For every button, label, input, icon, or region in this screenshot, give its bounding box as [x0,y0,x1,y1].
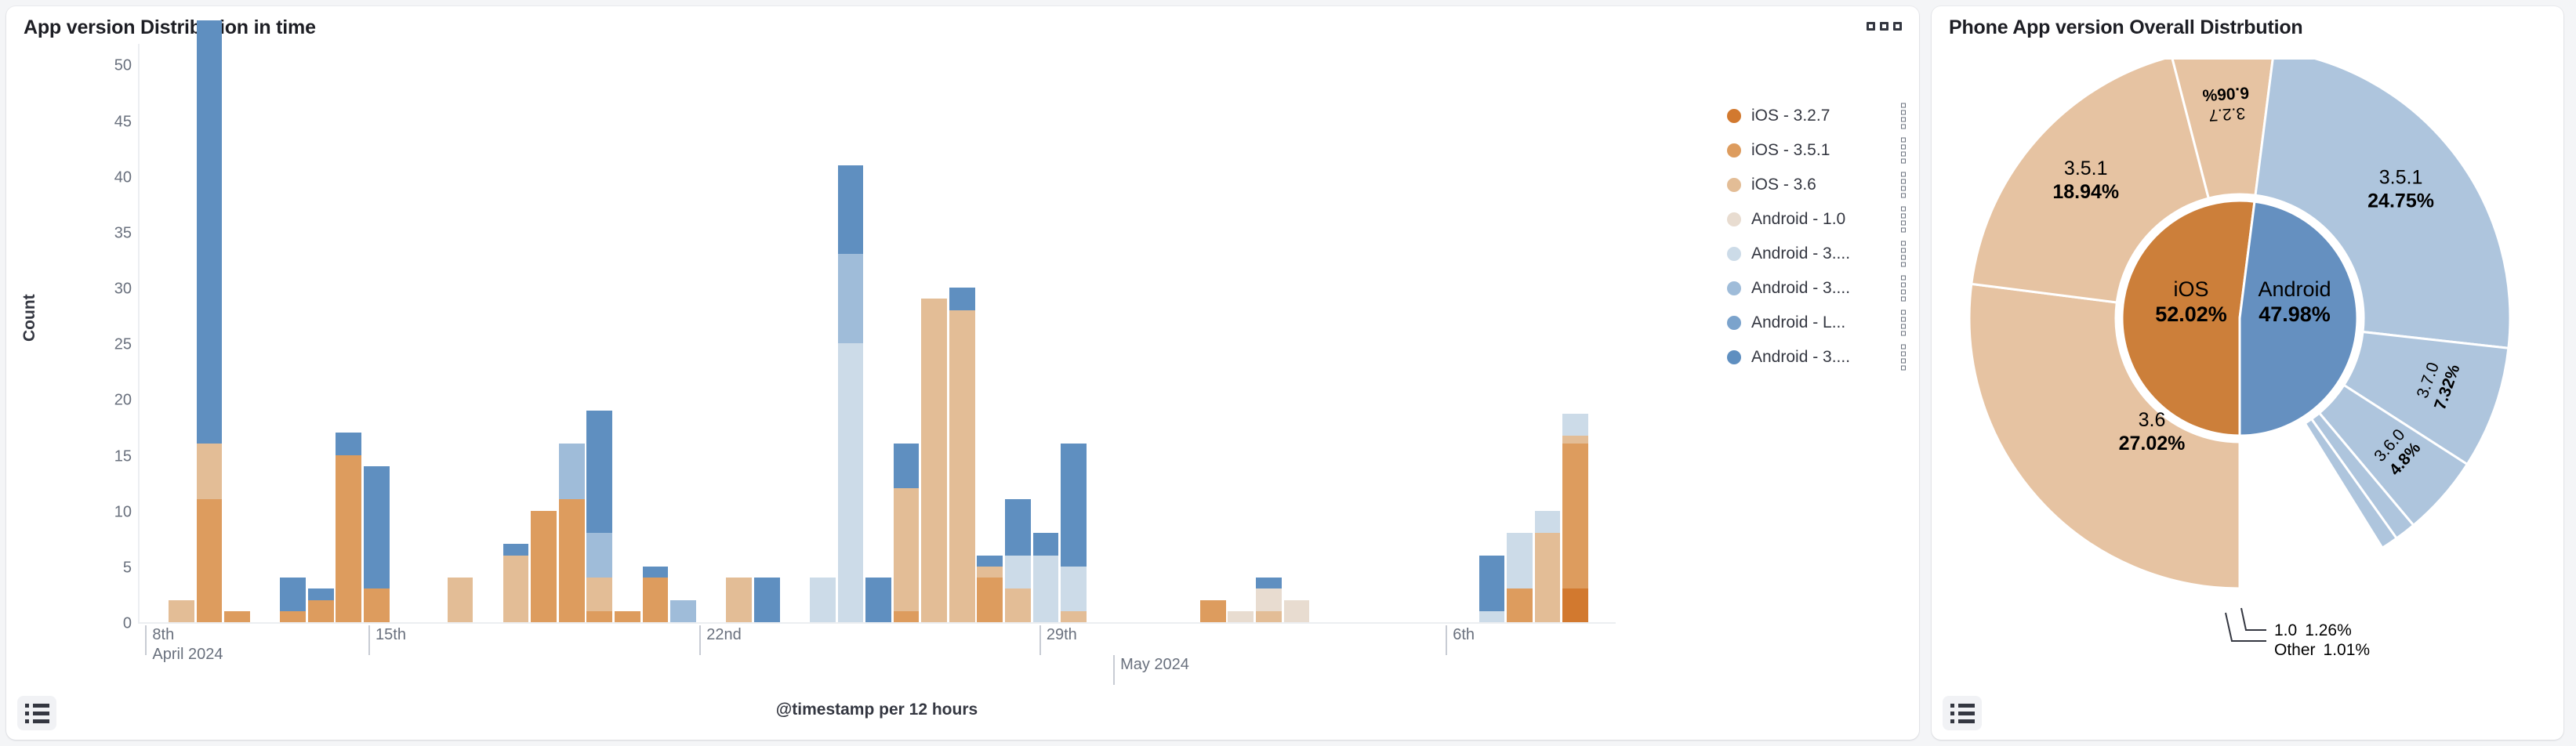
bar-column[interactable] [1284,600,1310,622]
bar-segment [1562,444,1588,588]
bar-segment [1479,556,1505,611]
grip-square [1901,110,1906,115]
bar-column[interactable] [949,288,975,622]
bar-segment [1200,600,1226,622]
list-bullet [1950,704,1954,708]
y-axis-title: Count [20,294,39,342]
legend-color-dot [1727,109,1741,123]
grip-square [1901,366,1906,371]
callout-leader-one-zero [2241,608,2266,630]
x-tick-label: 22nd [699,625,742,655]
grip-square [1901,276,1906,281]
bar-segment [1061,567,1087,611]
bar-segment [1562,436,1588,444]
bar-column[interactable] [1256,578,1282,622]
bar-segment [336,455,361,622]
bar-column[interactable] [865,578,891,622]
bar-column[interactable] [448,578,473,622]
legend-item[interactable]: Android - 1.0 [1727,202,1907,237]
bar-column[interactable] [336,433,361,622]
bar-segment [559,499,585,622]
legend-drag-handle-icon[interactable] [1901,138,1906,164]
page-title-right: Phone App version Overall Distrbution [1932,6,2563,39]
bar-segment [503,544,529,555]
grip-square [1901,207,1906,212]
list-bullet [1950,719,1954,723]
bar-segment [977,567,1003,578]
y-tick-label: 25 [96,336,132,354]
bar-segment [586,411,612,534]
bar-segment [977,556,1003,567]
bar-segment [643,578,669,622]
dashboard: App version Distribution in time Count 0… [0,0,2576,746]
bar-segment [894,444,920,488]
y-tick-label: 5 [96,559,132,577]
bar-column[interactable] [1507,533,1533,622]
list-line [33,704,49,708]
bar-column[interactable] [977,556,1003,622]
legend-item[interactable]: iOS - 3.6 [1727,168,1907,202]
bar-segment [308,600,334,622]
bar-segment [280,578,306,611]
x-axis-title: @timestamp per 12 hours [138,701,1616,719]
y-tick-label: 15 [96,447,132,465]
bar-segment [1562,414,1588,436]
grip-square [1901,138,1906,143]
grip-square [1901,172,1906,177]
bar-chart: Count 05101520253035404550 8thApril 2024… [6,44,1919,718]
callout-label-1-0: 1.01.26% [2274,621,2352,639]
bar-column[interactable] [726,578,752,622]
bar-column[interactable] [1061,444,1087,622]
x-tick-label: 8thApril 2024 [145,625,223,655]
bar-segment [643,567,669,578]
bar-segment [197,444,223,499]
bar-segment [364,588,390,622]
bar-segment [1033,556,1059,622]
bar-segment [308,588,334,599]
grip-square [1901,152,1906,157]
y-axis-ticks: 05101520253035404550 [45,44,132,624]
grip-square [1901,297,1906,302]
bar-segment [894,488,920,611]
list-line [1958,704,1975,708]
legend-item-label: iOS - 3.2.7 [1751,107,1830,125]
legend-item[interactable]: iOS - 3.2.7 [1727,99,1907,133]
bar-column[interactable] [810,578,836,622]
bar-column[interactable] [1033,533,1059,622]
sunburst-slices [1969,60,2510,588]
bar-segment [1507,588,1533,622]
legend-color-dot [1727,178,1741,192]
panel-app-version-over-time: App version Distribution in time Count 0… [6,6,1919,740]
legend-item[interactable]: Android - 3.... [1727,271,1907,306]
bar-segment [838,165,864,255]
legend-color-dot [1727,212,1741,226]
grip-square [1901,145,1906,150]
page-title-left: App version Distribution in time [6,6,1919,39]
bar-column[interactable] [921,299,947,622]
x-tick-label: May 2024 [1113,655,1189,685]
bar-column[interactable] [364,466,390,622]
bar-column[interactable] [1535,511,1561,622]
bar-segment [586,611,612,622]
legend-drag-handle-icon[interactable] [1901,310,1906,336]
bar-segment [169,600,194,622]
grip-square [1901,352,1906,357]
legend-color-dot [1727,350,1741,364]
legend-item-label: iOS - 3.6 [1751,176,1816,194]
bar-segment [448,578,473,622]
bar-column[interactable] [308,588,334,622]
grip-square [1901,248,1906,253]
bar-segment [1256,578,1282,588]
bar-segment [1005,588,1031,622]
bar-segment [1256,588,1282,610]
legend-item-label: Android - 3.... [1751,348,1850,367]
square-glyph [1867,22,1875,31]
bar-segment [977,578,1003,622]
bar-column[interactable] [1200,600,1226,622]
legend-drag-handle-icon[interactable] [1901,345,1906,371]
x-tick-label: 6th [1446,625,1475,655]
bar-segment [670,600,696,622]
y-tick-label: 20 [96,392,132,410]
bar-segment [810,578,836,622]
bar-segment [865,578,891,622]
callout-label-other: Other1.01% [2274,641,2370,659]
bar-column[interactable] [503,544,529,622]
bar-column[interactable] [670,600,696,622]
bar-segment [838,343,864,622]
legend-color-dot [1727,247,1741,261]
grip-square [1901,283,1906,288]
bar-segment [1005,499,1031,555]
legend-drag-handle-icon[interactable] [1901,172,1906,198]
y-tick-label: 50 [96,57,132,75]
grip-square [1901,324,1906,329]
bar-segment [224,611,250,622]
legend-drag-handle-icon[interactable] [1901,207,1906,233]
bar-segment [949,288,975,310]
bar-segment [1284,600,1310,622]
panel-options-icon[interactable] [1867,22,1902,31]
bar-segment [1535,533,1561,622]
bar-plot-area [138,44,1616,624]
legend-item-label: Android - 3.... [1751,279,1850,298]
legend-item[interactable]: Android - 3.... [1727,237,1907,271]
grip-square [1901,194,1906,198]
grip-square [1901,103,1906,108]
bar-column[interactable] [1228,611,1254,622]
list-line [1958,719,1975,723]
grip-square [1901,118,1906,122]
bar-column[interactable] [531,511,557,622]
bar-column[interactable] [1562,414,1588,622]
grip-square [1901,317,1906,322]
y-tick-label: 10 [96,503,132,521]
bar-segment [197,20,223,444]
x-tick-label: 29th [1039,625,1077,655]
bar-segment [838,254,864,343]
bar-column[interactable] [1005,499,1031,622]
grip-square [1901,255,1906,260]
square-glyph [1893,22,1902,31]
bar-segment [894,611,920,622]
legend-item-label: iOS - 3.5.1 [1751,141,1830,160]
legend-item-label: Android - 1.0 [1751,210,1845,229]
list-bullet [25,719,29,723]
grip-square [1901,228,1906,233]
bar-segment [1256,611,1282,622]
legend-list-button-right[interactable] [1943,696,1982,730]
bar-column[interactable] [586,411,612,622]
list-bullet [25,704,29,708]
bar-column[interactable] [169,600,194,622]
list-bullet [25,712,29,715]
grip-square [1901,179,1906,184]
legend-list-button[interactable] [17,696,56,730]
bar-column[interactable] [559,444,585,622]
bar-segment [1033,533,1059,555]
grip-square [1901,214,1906,219]
bar-segment [1479,611,1505,622]
grip-square [1901,241,1906,246]
y-tick-label: 35 [96,224,132,242]
legend-item[interactable]: Android - 3.... [1727,340,1907,375]
square-glyph [1880,22,1888,31]
list-bullet [1950,712,1954,715]
legend-color-dot [1727,316,1741,330]
bar-segment [364,466,390,589]
legend-item-label: Android - L... [1751,313,1845,332]
grip-square [1901,359,1906,364]
sunburst-svg: iOS52.02%Android47.98%3.627.02%3.5.118.9… [1950,60,2545,679]
grip-square [1901,186,1906,191]
bar-column[interactable] [894,444,920,622]
list-line [1958,712,1975,715]
bar-segment [336,433,361,454]
bar-column[interactable] [197,20,223,622]
grip-square [1901,290,1906,295]
bar-segment [1061,444,1087,567]
legend-item[interactable]: Android - L... [1727,306,1907,340]
bar-segment [615,611,640,622]
legend-item[interactable]: iOS - 3.5.1 [1727,133,1907,168]
chart-legend: iOS - 3.2.7iOS - 3.5.1iOS - 3.6Android -… [1727,99,1907,375]
bar-column[interactable] [838,165,864,622]
bar-segment [586,533,612,578]
legend-drag-handle-icon[interactable] [1901,103,1906,129]
y-tick-label: 45 [96,113,132,131]
bar-segment [280,611,306,622]
panel-overall-distribution: Phone App version Overall Distrbution iO… [1932,6,2563,740]
bar-segment [1535,511,1561,533]
bar-segment [949,310,975,622]
bar-column[interactable] [643,567,669,622]
bar-segment [921,299,947,622]
list-line [33,712,49,715]
y-tick-label: 0 [96,615,132,633]
list-line [33,719,49,723]
bar-segment [1005,556,1031,589]
legend-drag-handle-icon[interactable] [1901,276,1906,302]
bar-segment [1061,611,1087,622]
bar-column[interactable] [224,611,250,622]
grip-square [1901,263,1906,267]
bar-segment [1228,611,1254,622]
bar-column[interactable] [280,578,306,622]
grip-square [1901,159,1906,164]
bar-segment [1562,588,1588,622]
legend-color-dot [1727,281,1741,295]
bar-segment [197,499,223,622]
grip-square [1901,331,1906,336]
bar-segment [754,578,780,622]
legend-drag-handle-icon[interactable] [1901,241,1906,267]
sunburst-chart: iOS52.02%Android47.98%3.627.02%3.5.118.9… [1932,49,2563,699]
legend-item-label: Android - 3.... [1751,244,1850,263]
grip-square [1901,221,1906,226]
y-tick-label: 30 [96,281,132,299]
grip-square [1901,125,1906,129]
bar-segment [559,444,585,499]
y-tick-label: 40 [96,168,132,186]
bar-column[interactable] [754,578,780,622]
x-tick-label: 15th [368,625,406,655]
bar-segment [531,511,557,622]
x-axis-ticks: 8thApril 202415th22nd29thMay 20246th [138,625,1616,688]
bar-column[interactable] [615,611,640,622]
bar-segment [726,578,752,622]
grip-square [1901,310,1906,315]
bar-column[interactable] [1479,556,1505,622]
bar-segment [586,578,612,611]
bar-segment [503,556,529,622]
grip-square [1901,345,1906,349]
bar-segment [1507,533,1533,588]
legend-color-dot [1727,143,1741,158]
